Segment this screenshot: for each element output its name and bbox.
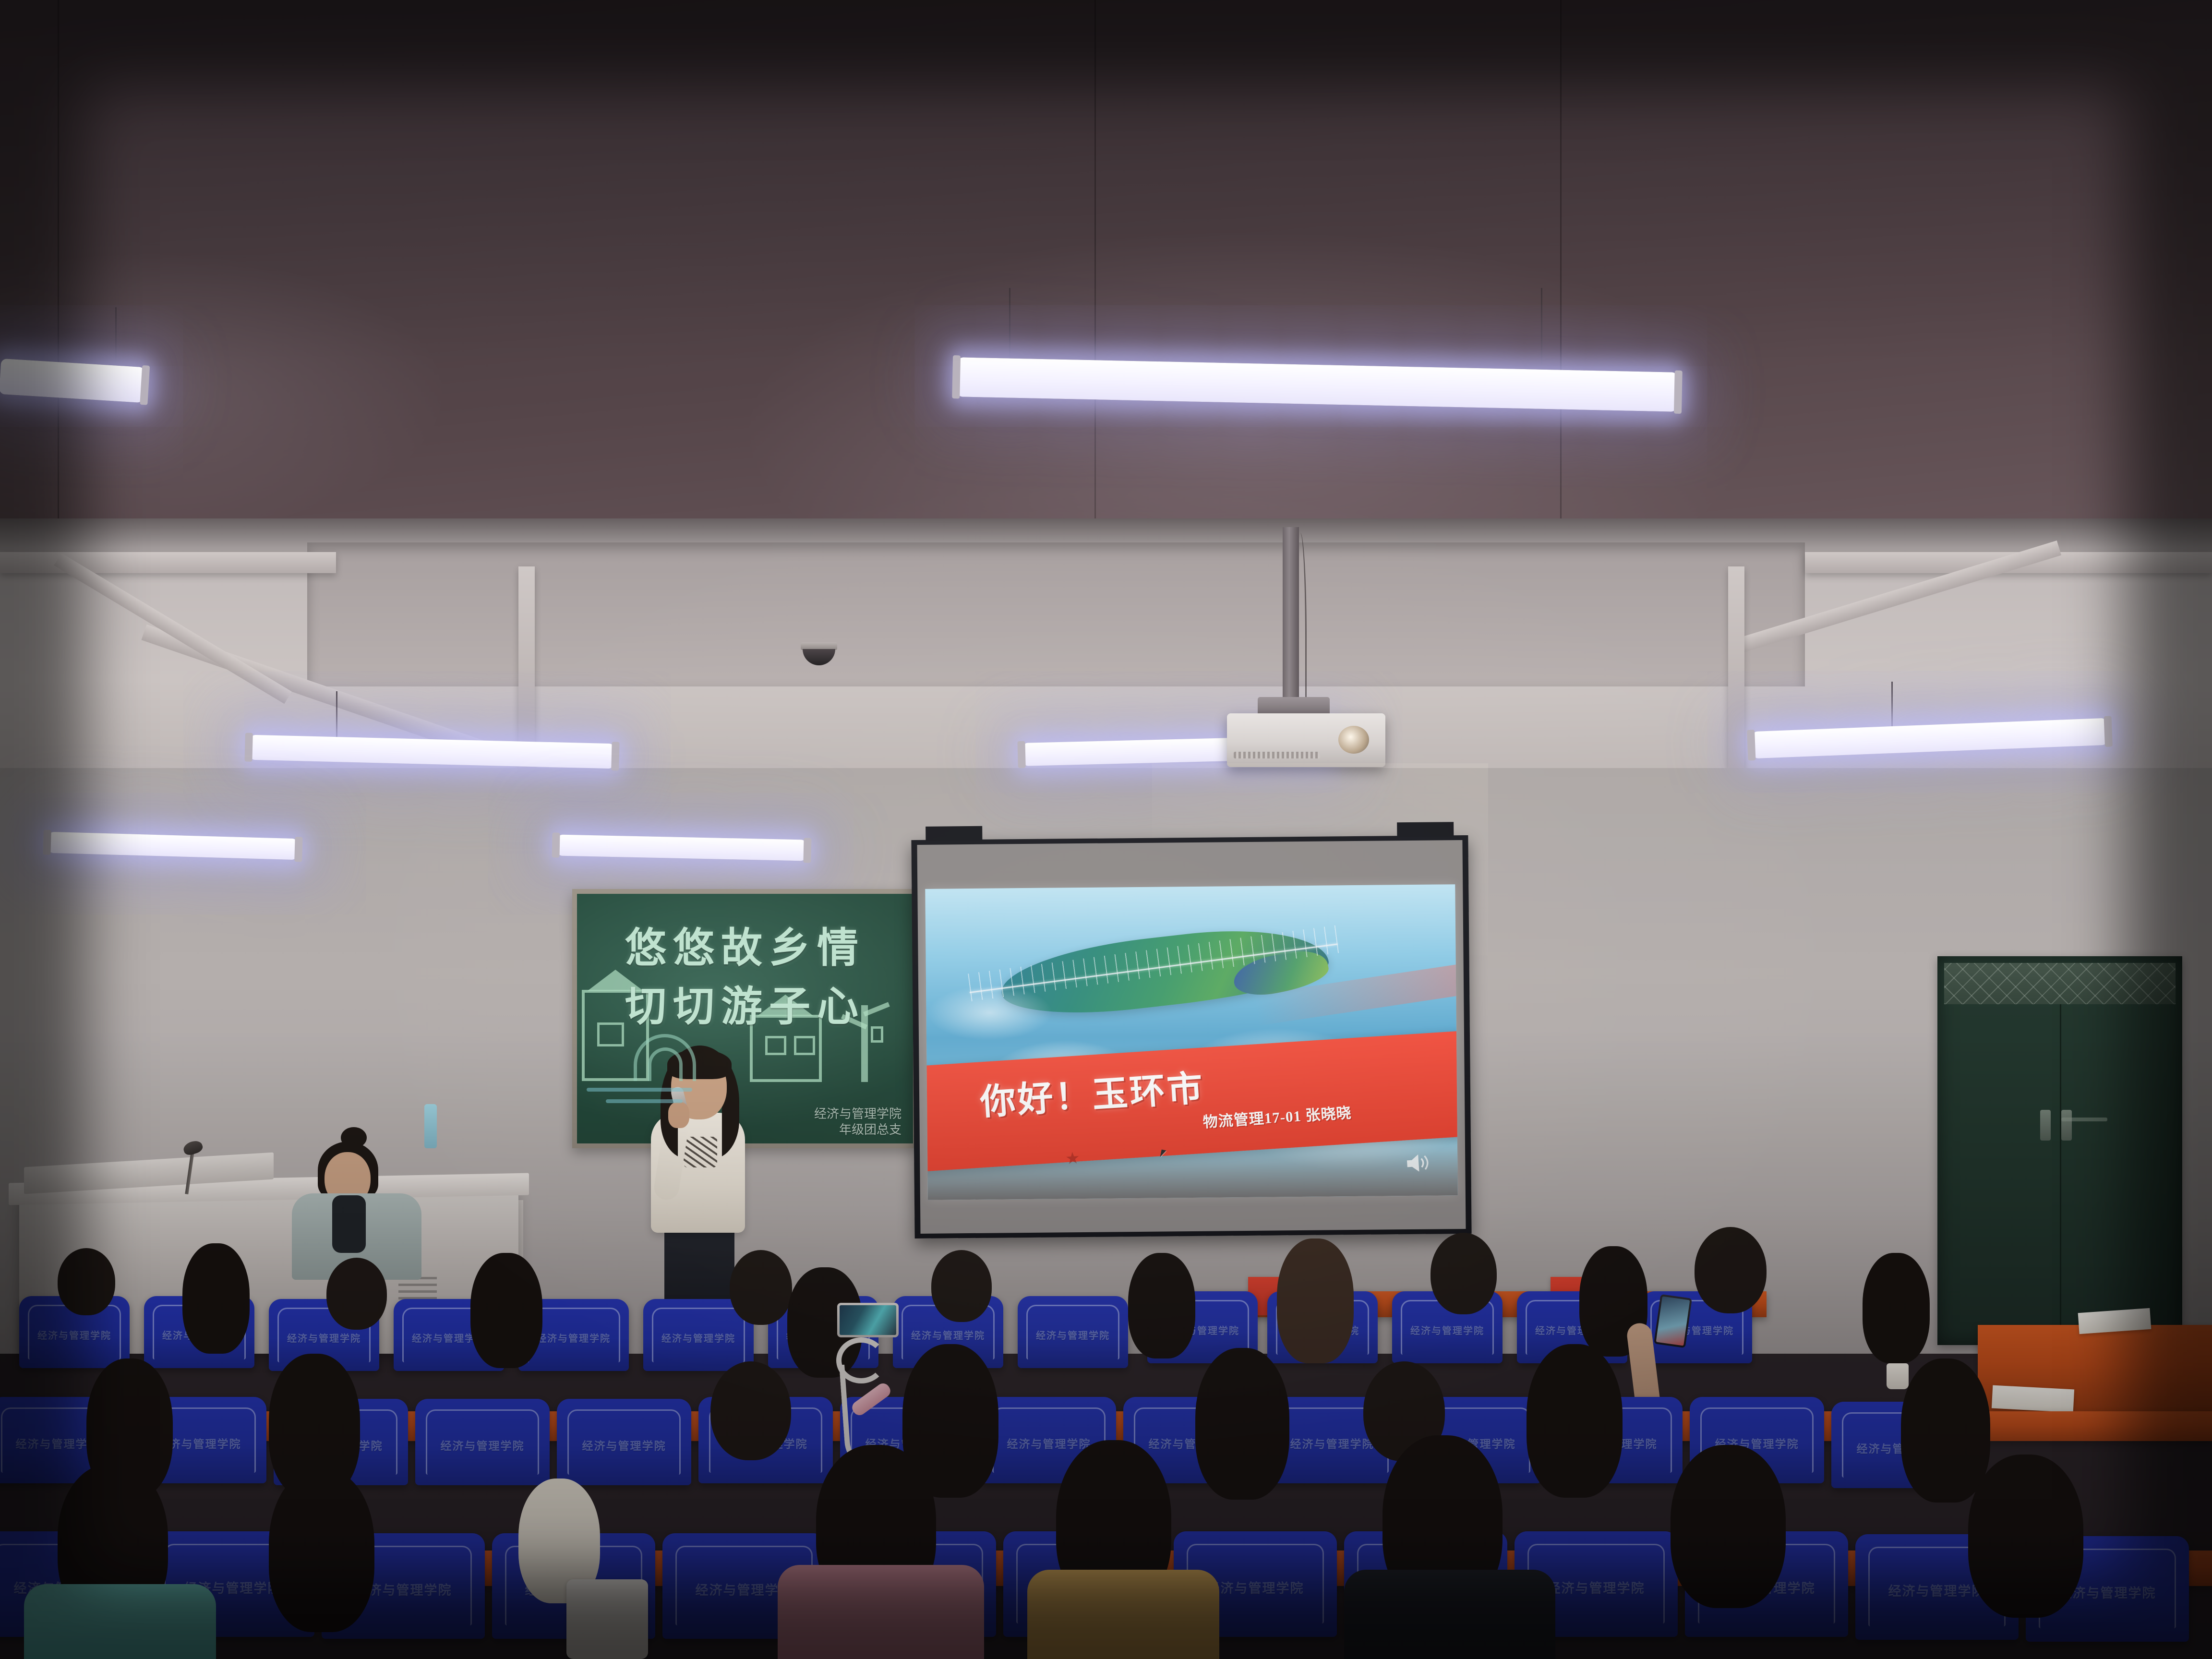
auditorium-chair[interactable]: 经济与管理学院 [415,1399,550,1485]
lecture-hall-photo: 悠悠故乡情 切切游子心 经济与管理学院 年级团总支 你好 [0,0,2212,1659]
ceiling-beam-vertical [1728,566,1744,768]
light-end-cap [2104,716,2113,747]
presenter-hand [668,1102,689,1128]
audience-hair [182,1243,250,1354]
light-end-cap [803,838,811,863]
door-transom-window [1944,963,2176,1004]
audience-hair [269,1469,374,1632]
door-handle[interactable] [2061,1110,2072,1141]
ceiling-projector [1227,713,1385,767]
moderator-inner-top [332,1195,366,1253]
audience-hoodie [778,1565,984,1659]
auditorium-chair[interactable]: 经济与管理学院 [557,1399,691,1485]
projection-screen: 你好！玉环市 物流管理17-01 张晓晓 ★ [911,835,1471,1238]
audience-hair [1968,1455,2083,1618]
blackboard-signature-line-1: 经济与管理学院 [814,1106,902,1122]
audience-hair [1671,1445,1786,1608]
audience-head [1431,1233,1497,1314]
audience-hair [1901,1358,1990,1503]
screen-surface: 你好！玉环市 物流管理17-01 张晓晓 ★ [917,840,1466,1234]
white-bag [566,1579,648,1659]
audience-hair [1277,1238,1354,1363]
light-end-cap [952,355,961,398]
audience-hair [470,1253,542,1368]
screen-hanger [926,826,982,841]
blackboard-line-2: 切切游子心 [577,973,913,1033]
chair-label: 经济与管理学院 [1392,1323,1503,1337]
blackboard-signature-line-2: 年级团总支 [814,1122,902,1138]
chalk-water-line [606,1099,683,1103]
phone-viewfinder [1656,1296,1690,1346]
ceiling-light-glow [0,0,2212,547]
audience-head [730,1250,792,1325]
door-push-plate [2061,1118,2107,1121]
rear-exit-door[interactable] [1937,956,2182,1345]
chalk-arch [648,1047,683,1081]
speaker-icon[interactable] [1405,1151,1432,1175]
presenter-sweater-motif [684,1137,717,1167]
audience-head [710,1361,791,1460]
audience-hair [1128,1253,1195,1358]
light-end-cap [1017,741,1025,768]
light-end-cap [43,829,51,854]
audience-jacket [24,1584,216,1659]
light-suspension-rod [1541,288,1542,365]
auditorium-chair[interactable]: 经济与管理学院 [1018,1296,1128,1368]
blackboard-line-1: 悠悠故乡情 [577,914,913,974]
notebook [1992,1385,2074,1413]
chair-label: 经济与管理学院 [415,1437,550,1453]
chair-label: 经济与管理学院 [19,1328,130,1342]
audience-head [326,1258,387,1330]
blackboard-surface: 悠悠故乡情 切切游子心 经济与管理学院 年级团总支 [577,894,913,1143]
chair-label: 经济与管理学院 [893,1328,1003,1342]
audience-hair [1195,1348,1289,1500]
chalk-water-line [587,1088,692,1092]
chalk-window [765,1036,786,1055]
light-end-cap [552,832,560,857]
door-center-seam [2060,1004,2061,1345]
chair-label: 经济与管理学院 [557,1437,691,1453]
audience-hair [1527,1344,1623,1498]
powerpoint-slide: 你好！玉环市 物流管理17-01 张晓晓 ★ [925,884,1458,1200]
chalk-window [794,1036,815,1055]
blackboard: 悠悠故乡情 切切游子心 经济与管理学院 年级团总支 [572,889,918,1148]
audience-head [58,1248,115,1315]
chair-label: 经济与管理学院 [643,1331,754,1345]
projector-lens [1338,726,1369,754]
slide-star-icon: ★ [1065,1149,1081,1169]
audience-head [931,1250,992,1322]
screen-hanger [1397,822,1454,837]
ceiling-beam [0,552,336,573]
door-handle[interactable] [2040,1110,2051,1141]
light-end-cap [244,733,252,761]
light-end-cap [294,837,302,862]
light-end-cap [1674,371,1683,414]
audience-head [1695,1227,1767,1313]
light-end-cap [611,742,619,770]
light-suspension-rod [115,307,117,365]
audience-jacket [1344,1570,1555,1659]
projector-vent [1234,752,1320,758]
light-suspension-rod [336,691,337,744]
light-suspension-rod [1009,288,1010,365]
phone-viewfinder [840,1305,896,1335]
ceiling-beam-vertical [518,566,535,768]
audience-hair [1863,1253,1930,1363]
chair-label: 经济与管理学院 [1018,1328,1128,1342]
light-end-cap [1747,730,1755,761]
recording-phone[interactable] [837,1303,899,1337]
audience-hoodie [1027,1570,1219,1659]
water-bottle [424,1104,437,1148]
chair-label: 经济与管理学院 [269,1331,379,1345]
paper-cup [1887,1363,1909,1389]
blackboard-signature: 经济与管理学院 年级团总支 [814,1106,902,1138]
